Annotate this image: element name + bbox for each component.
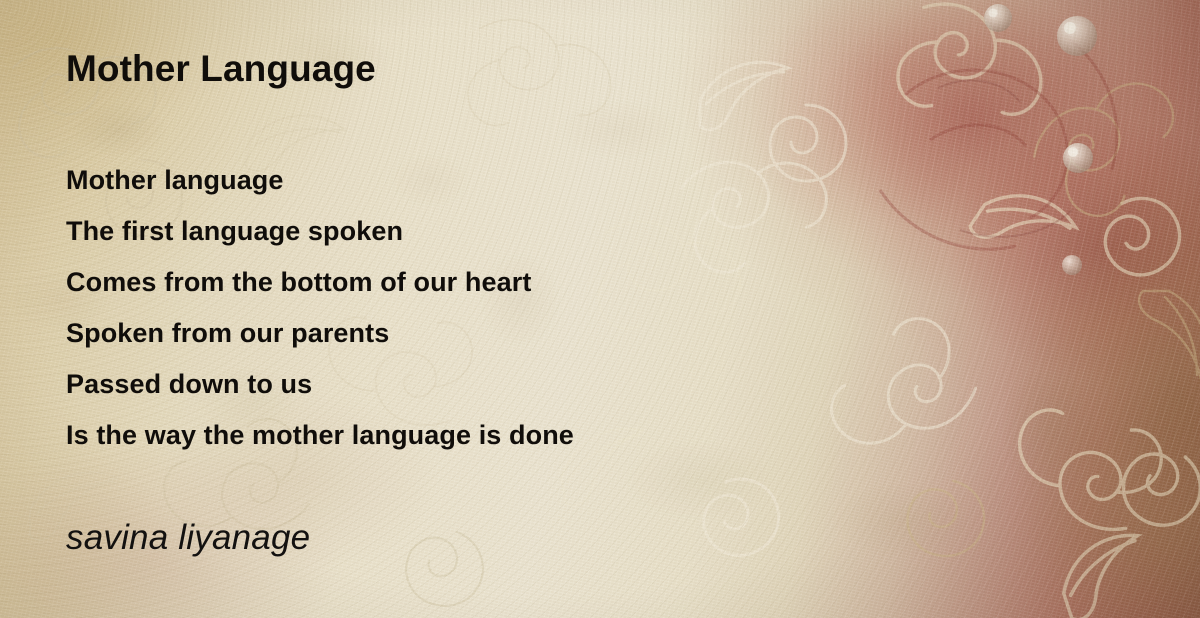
poem-line: Comes from the bottom of our heart bbox=[66, 257, 766, 308]
poem-line: Mother language bbox=[66, 155, 766, 206]
poem-line: The first language spoken bbox=[66, 206, 766, 257]
poem-content: Mother Language Mother language The firs… bbox=[0, 0, 1200, 618]
poem-author: savina liyanage bbox=[66, 518, 310, 558]
poem-line: Is the way the mother language is done bbox=[66, 410, 766, 461]
poem-title: Mother Language bbox=[66, 48, 376, 90]
poem-body: Mother language The first language spoke… bbox=[66, 155, 766, 461]
poem-line: Passed down to us bbox=[66, 359, 766, 410]
poem-line: Spoken from our parents bbox=[66, 308, 766, 359]
poem-image: Mother Language Mother language The firs… bbox=[0, 0, 1200, 618]
